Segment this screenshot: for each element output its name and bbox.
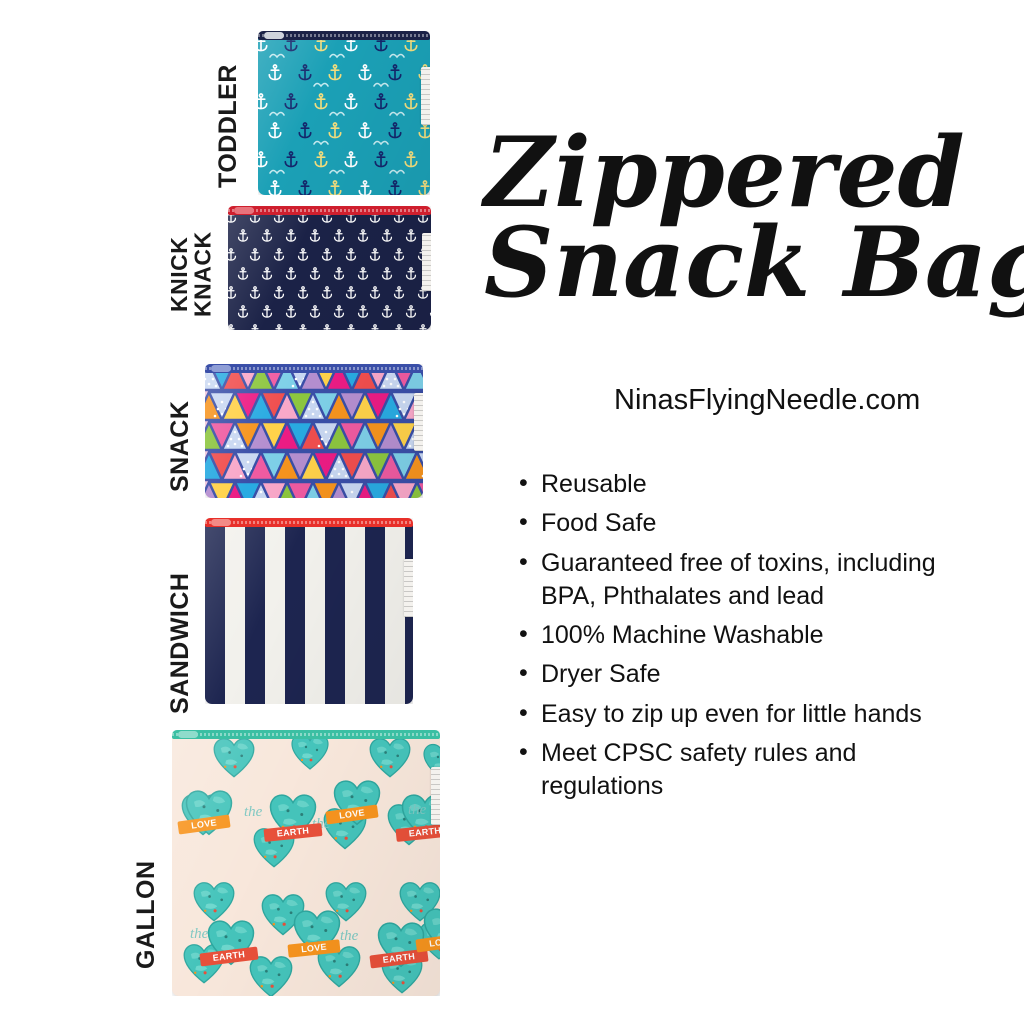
anchor-icon (312, 93, 330, 114)
anchor-icon (356, 180, 374, 195)
size-label-line: KNICK (168, 222, 191, 327)
bag-toddler[interactable] (258, 31, 430, 195)
bag-snack[interactable] (205, 364, 423, 498)
anchor-icon (386, 64, 404, 85)
anchor-icon (260, 267, 274, 283)
heart-globe-icon (212, 736, 256, 780)
anchor-icon (272, 286, 286, 302)
fabric-tag (431, 767, 440, 825)
anchor-icon (284, 305, 298, 321)
anchor-icon (386, 180, 404, 195)
anchor-icon (356, 305, 370, 321)
anchor-icon (356, 122, 374, 143)
anchor-icon (332, 229, 346, 245)
list-item: Easy to zip up even for little hands (516, 698, 976, 731)
anchor-icon (282, 151, 300, 172)
zipper-pull[interactable] (264, 32, 284, 39)
anchor-icon (344, 286, 358, 302)
anchor-icon (392, 286, 406, 302)
anchor-icon (284, 267, 298, 283)
anchor-icon (368, 324, 382, 330)
anchor-icon (356, 229, 370, 245)
anchor-icon (296, 180, 314, 195)
anchor-icon (372, 93, 390, 114)
zipper-pull[interactable] (234, 207, 254, 214)
size-label-knick-knack: KNICK KNACK (168, 222, 224, 327)
anchor-icon (236, 267, 250, 283)
anchor-icon (320, 286, 334, 302)
zipper-pull[interactable] (178, 731, 198, 738)
anchor-icon (296, 64, 314, 85)
page-title: Zippered Snack Bags (484, 128, 1024, 308)
anchor-icon (416, 122, 430, 143)
anchor-icon (380, 305, 394, 321)
list-item: Guaranteed free of toxins, including BPA… (516, 547, 976, 614)
anchor-icon (380, 229, 394, 245)
pattern-word-the: the (244, 804, 262, 821)
zipper-teeth (205, 521, 413, 524)
list-item: 100% Machine Washable (516, 619, 976, 652)
anchor-icon (392, 324, 406, 330)
pattern-word-the: the (190, 926, 208, 943)
anchor-icon (312, 151, 330, 172)
anchor-icon (386, 122, 404, 143)
anchor-icon (272, 248, 286, 264)
anchor-icon (248, 248, 262, 264)
poster-canvas: TODDLER KNICK KNACK SNACK (0, 0, 1024, 1024)
bag-gallon[interactable]: LOVEEARTHLOVEEARTHEARTHLOVEEARTHLOVEthet… (172, 730, 440, 996)
anchor-icon (296, 122, 314, 143)
zipper-teeth (205, 367, 423, 370)
anchor-icon (266, 122, 284, 143)
list-item: Reusable (516, 468, 976, 501)
anchor-icon (228, 324, 238, 330)
size-label-sandwich: SANDWICH (168, 570, 202, 716)
anchor-icon (326, 122, 344, 143)
anchor-icon (402, 151, 420, 172)
fabric-tag (421, 67, 430, 125)
fabric-tag (414, 393, 423, 451)
anchor-icon (248, 286, 262, 302)
anchor-icon (282, 93, 300, 114)
fabric-tag (422, 233, 431, 291)
anchor-icon (308, 267, 322, 283)
anchor-icon (284, 229, 298, 245)
anchor-icon (416, 324, 430, 330)
anchor-icon (332, 267, 346, 283)
size-label-snack: SNACK (168, 396, 202, 496)
anchor-icon (236, 305, 250, 321)
anchor-icon (380, 267, 394, 283)
pattern-word-the: the (340, 928, 358, 945)
size-label-line: KNACK (191, 222, 214, 327)
bag-knick-knack[interactable] (228, 206, 431, 330)
website-url[interactable]: NinasFlyingNeedle.com (614, 384, 920, 417)
anchor-icon (428, 305, 431, 321)
anchor-icon (404, 305, 418, 321)
zipper-pull[interactable] (211, 519, 231, 526)
size-label-line: SNACK (168, 396, 194, 496)
page-title-line-2: Snack Bags (484, 218, 1024, 308)
bag-fabric-gallon: LOVEEARTHLOVEEARTHEARTHLOVEEARTHLOVEthet… (172, 730, 440, 996)
anchor-icon (368, 248, 382, 264)
anchor-icon (296, 248, 310, 264)
anchor-icon (344, 248, 358, 264)
anchor-icon (344, 324, 358, 330)
anchor-icon (236, 229, 250, 245)
anchor-icon (228, 248, 238, 264)
anchor-icon (266, 64, 284, 85)
anchor-icon (228, 286, 238, 302)
anchor-icon (342, 151, 360, 172)
anchor-icon (320, 248, 334, 264)
bag-fabric-toddler (258, 31, 430, 195)
list-item: Dryer Safe (516, 658, 976, 691)
anchor-icon (260, 305, 274, 321)
anchor-icon (356, 267, 370, 283)
anchor-icon (308, 229, 322, 245)
bag-fabric-knick-knack (228, 206, 431, 330)
anchor-icon (368, 286, 382, 302)
anchor-icon (404, 229, 418, 245)
zipper-pull[interactable] (211, 365, 231, 372)
anchor-icon (326, 64, 344, 85)
feature-list: Reusable Food Safe Guaranteed free of to… (516, 468, 976, 809)
anchor-icon (260, 229, 274, 245)
anchor-icon (326, 180, 344, 195)
anchor-icon (342, 93, 360, 114)
heart-globe-icon (368, 736, 412, 780)
anchor-icon (404, 267, 418, 283)
anchor-icon (248, 324, 262, 330)
triangle-shape (416, 480, 423, 498)
size-label-line: GALLON (134, 860, 160, 970)
list-item: Food Safe (516, 507, 976, 540)
anchor-icon (266, 180, 284, 195)
size-label-line: SANDWICH (168, 570, 194, 716)
zipper-teeth (172, 733, 440, 736)
anchor-icon (392, 248, 406, 264)
page-title-line-1: Zippered (484, 128, 1024, 218)
zipper-teeth (228, 209, 431, 212)
fabric-tag (404, 559, 413, 617)
anchor-icon (296, 324, 310, 330)
anchor-icon (372, 151, 390, 172)
size-label-toddler: TODDLER (216, 56, 250, 196)
bag-fabric-snack (205, 364, 423, 498)
bag-sandwich[interactable] (205, 518, 413, 704)
size-label-gallon: GALLON (134, 860, 168, 970)
anchor-icon (332, 305, 346, 321)
bag-fabric-sandwich (205, 518, 413, 704)
anchor-icon (402, 93, 420, 114)
anchor-icon (272, 324, 286, 330)
pattern-word-the: the (408, 802, 426, 819)
anchor-icon (356, 64, 374, 85)
anchor-icon (308, 305, 322, 321)
size-label-line: TODDLER (216, 56, 242, 196)
anchor-icon (320, 324, 334, 330)
anchor-icon (296, 286, 310, 302)
list-item: Meet CPSC safety rules and regulations (516, 737, 976, 804)
anchor-icon (416, 180, 430, 195)
